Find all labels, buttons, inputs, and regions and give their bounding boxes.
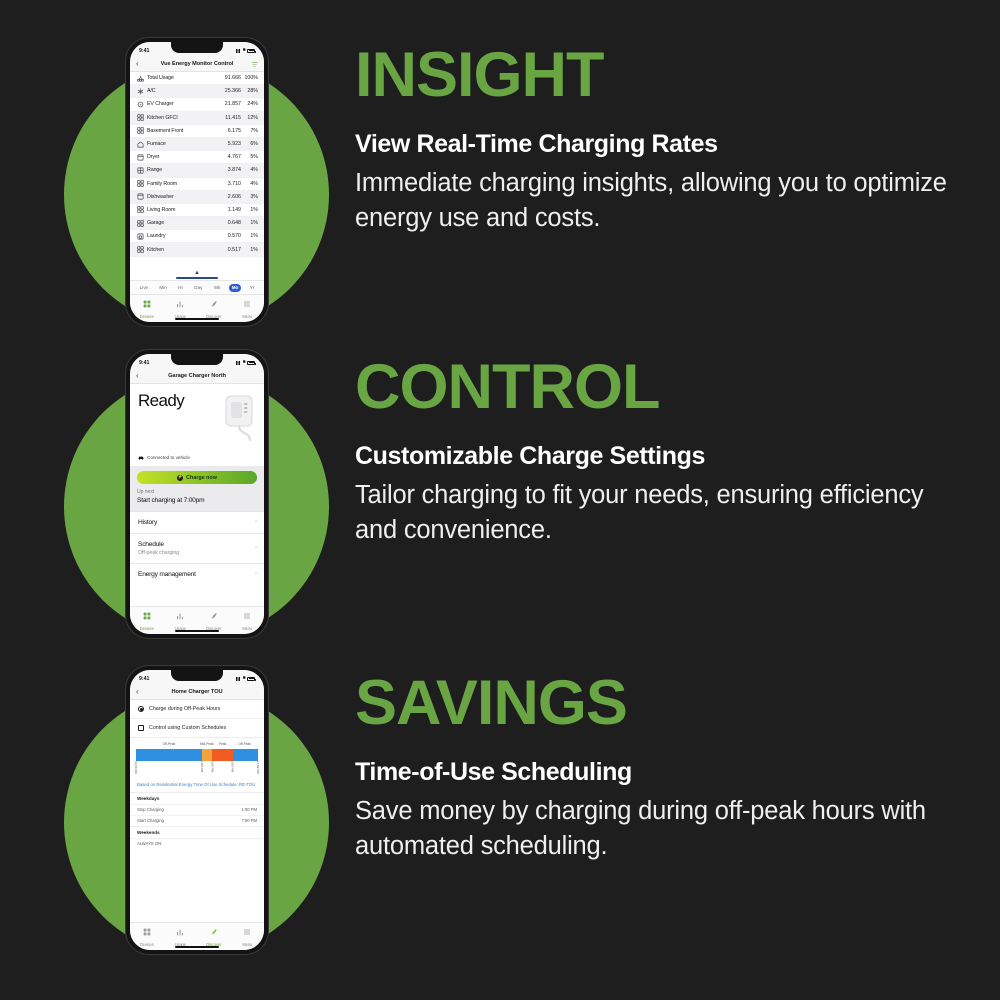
settings-row[interactable]: Energy management› xyxy=(130,563,264,585)
usage-row[interactable]: Family Room3.7104% xyxy=(130,178,264,191)
usage-row[interactable]: Garage0.6481% xyxy=(130,217,264,230)
usage-row[interactable]: EV Charger21.85724% xyxy=(130,98,264,111)
nav-bar: ‹ Vue Energy Monitor Control xyxy=(130,57,264,72)
tab-label: Devices xyxy=(140,626,154,631)
usage-row-value: 11.415 xyxy=(219,115,241,121)
chevron-right-icon: › xyxy=(255,571,257,577)
tou-schedule-note: Based on Residential Energy Time Of Use … xyxy=(130,780,264,792)
schedule-row: Stop Charging1:00 PM xyxy=(130,804,264,815)
tou-tick-label: 7:00 PM xyxy=(230,761,234,772)
tou-tick-label: 1:00 PM xyxy=(200,761,204,772)
radio-unselected-icon[interactable] xyxy=(138,725,144,731)
status-time: 9:41 xyxy=(139,48,149,54)
settings-row-title: History xyxy=(138,519,255,526)
usage-icon xyxy=(176,295,184,313)
schedule-row-value: 1:00 PM xyxy=(241,807,257,812)
usage-row[interactable]: Kitchen GFCI11.41512% xyxy=(130,112,264,125)
charger-detail: Ready xyxy=(130,384,264,606)
weekdays-header: Weekdays xyxy=(130,792,264,804)
feature-control: 9:41 ⏹ ‹ Garage Charger North Ready xyxy=(0,334,1000,646)
nav-bar: ‹ Home Charger TOU xyxy=(130,685,264,700)
connection-label: Connected to vehicle xyxy=(147,455,190,460)
page-title: Home Charger TOU xyxy=(130,689,264,695)
up-next-label: Up next xyxy=(137,489,257,495)
schedule-row-label: ALWAYS ON xyxy=(137,841,161,846)
ev-plug-icon xyxy=(135,101,145,108)
menu-icon xyxy=(243,295,251,313)
usage-row-name: Kitchen xyxy=(145,247,219,253)
feature-body: Tailor charging to fit your needs, ensur… xyxy=(355,478,955,548)
time-range-selector[interactable]: LiveMinHrDayWkMoYr xyxy=(130,280,264,294)
tab-usage[interactable]: Usage xyxy=(165,295,195,319)
schedule-row-label: Start Charging xyxy=(137,818,164,823)
phone-notch xyxy=(171,42,223,53)
phone-notch xyxy=(171,354,223,365)
phone-mockup-savings: 9:41 ⏹ ‹ Home Charger TOU Charge during … xyxy=(126,666,268,954)
settings-row-subtitle: Off-peak charging xyxy=(138,550,255,556)
settings-row-title: Energy management xyxy=(138,571,255,578)
chevron-right-icon: › xyxy=(255,545,257,551)
usage-row-value: 5.923 xyxy=(219,141,241,147)
feature-subhead: Time-of-Use Scheduling xyxy=(355,758,955,787)
feature-kicker: CONTROL xyxy=(355,356,955,419)
usage-row[interactable]: Range3.8744% xyxy=(130,164,264,177)
devices-icon xyxy=(143,607,151,625)
usage-row[interactable]: Basement Front6.1757% xyxy=(130,125,264,138)
filter-icon[interactable] xyxy=(251,61,258,68)
charge-mode-options[interactable]: Charge during Off-Peak HoursControl usin… xyxy=(130,700,264,738)
charge-mode-label: Charge during Off-Peak Hours xyxy=(149,706,220,712)
usage-row[interactable]: Laundry0.5701% xyxy=(130,230,264,243)
settings-row[interactable]: History› xyxy=(130,511,264,533)
usage-row-percent: 1% xyxy=(241,207,258,213)
tou-segment-mid-peak xyxy=(202,749,212,761)
outlet-icon xyxy=(135,127,145,134)
tab-menu[interactable]: Menu xyxy=(232,923,262,947)
cellular-signal-icon xyxy=(236,49,241,53)
outlet-icon xyxy=(135,246,145,253)
usage-row-percent: 4% xyxy=(241,167,258,173)
status-time: 9:41 xyxy=(139,360,149,366)
settings-list[interactable]: History›ScheduleOff-peak charging›Energy… xyxy=(130,511,264,585)
washer-icon xyxy=(135,233,145,240)
wifi-icon: ⏹ xyxy=(243,48,246,53)
status-icons: ⏹ xyxy=(236,676,255,681)
feature-body: Save money by charging during off-peak h… xyxy=(355,794,955,864)
usage-row-name: Laundry xyxy=(145,233,219,239)
usage-row-percent: 1% xyxy=(241,247,258,253)
feature-body: Immediate charging insights, allowing yo… xyxy=(355,166,955,236)
usage-row-name: EV Charger xyxy=(145,101,219,107)
tab-usage[interactable]: Usage xyxy=(165,607,195,631)
charge-mode-option[interactable]: Charge during Off-Peak Hours xyxy=(130,700,264,719)
usage-row-name: Basement Front xyxy=(145,128,219,134)
tab-devices[interactable]: Devices xyxy=(132,923,162,947)
wifi-icon: ⏹ xyxy=(243,360,246,365)
usage-row-name: Range xyxy=(145,167,219,173)
total-usage-row[interactable]: Total Usage91.666100% xyxy=(130,72,264,85)
cellular-signal-icon xyxy=(236,361,241,365)
usage-row-value: 25.366 xyxy=(219,88,241,94)
feature-insight: 9:41 ⏹ ‹ Vue Energy Monitor Control xyxy=(0,22,1000,334)
feature-savings: 9:41 ⏹ ‹ Home Charger TOU Charge during … xyxy=(0,650,1000,962)
usage-row-name: Family Room xyxy=(145,181,219,187)
usage-row-percent: 24% xyxy=(241,101,258,107)
usage-row-percent: 12% xyxy=(241,115,258,121)
usage-row-value: 6.175 xyxy=(219,128,241,134)
usage-row-value: 0.648 xyxy=(219,220,241,226)
furnace-icon xyxy=(135,141,145,148)
tab-discover[interactable]: Discover xyxy=(199,295,229,319)
tou-period-label: Mid-Peak xyxy=(200,742,213,746)
usage-row-name: Garage xyxy=(145,220,219,226)
usage-row[interactable]: Furnace5.9236% xyxy=(130,138,264,151)
outlet-icon xyxy=(135,206,145,213)
schedule-row-label: Stop Charging xyxy=(137,807,164,812)
phone-mockup-control: 9:41 ⏹ ‹ Garage Charger North Ready xyxy=(126,350,268,638)
car-icon xyxy=(138,456,144,460)
tab-devices[interactable]: Devices xyxy=(132,295,162,319)
page-title: Garage Charger North xyxy=(130,373,264,379)
time-range-chip-mo[interactable]: Mo xyxy=(229,284,242,292)
outlet-icon xyxy=(135,180,145,187)
promo-page: 9:41 ⏹ ‹ Vue Energy Monitor Control xyxy=(0,0,1000,1000)
usage-list[interactable]: Total Usage91.666100%A/C25.36628%EV Char… xyxy=(130,72,264,280)
usage-row[interactable]: Kitchen0.5171% xyxy=(130,243,264,256)
settings-row-title: Schedule xyxy=(138,541,255,548)
status-time: 9:41 xyxy=(139,676,149,682)
devices-icon xyxy=(143,923,151,941)
usage-row-name: Total Usage xyxy=(145,75,219,81)
home-indicator xyxy=(175,946,219,948)
charge-now-label: Charge now xyxy=(186,475,217,481)
tou-period-label: Off-Peak xyxy=(163,742,176,746)
tab-discover[interactable]: Discover xyxy=(199,923,229,947)
feature-text-insight: INSIGHT View Real-Time Charging Rates Im… xyxy=(355,44,955,236)
usage-row[interactable]: A/C25.36628% xyxy=(130,85,264,98)
connection-status: Connected to vehicle xyxy=(138,455,190,460)
weekends-header: Weekends xyxy=(130,826,264,838)
usage-row-value: 3.874 xyxy=(219,167,241,173)
charger-status-card: Ready xyxy=(130,384,264,466)
time-range-chip-hr[interactable]: Hr xyxy=(175,284,186,292)
charge-action-panel: ⚡ Charge now Up next Start charging at 7… xyxy=(130,466,264,511)
nav-bar: ‹ Garage Charger North xyxy=(130,369,264,384)
feature-subhead: View Real-Time Charging Rates xyxy=(355,130,955,159)
devices-icon xyxy=(143,295,151,313)
usage-icon xyxy=(176,607,184,625)
charge-mode-label: Control using Custom Schedules xyxy=(149,725,226,731)
tou-segment-peak xyxy=(212,749,232,761)
phone-notch xyxy=(171,670,223,681)
outlet-icon xyxy=(135,114,145,121)
tab-label: Devices xyxy=(140,314,154,319)
bolt-icon: ⚡ xyxy=(177,475,183,481)
usage-row-value: 0.570 xyxy=(219,233,241,239)
outlet-icon xyxy=(135,220,145,227)
tou-settings: Charge during Off-Peak HoursControl usin… xyxy=(130,700,264,922)
phone-screen: 9:41 ⏹ ‹ Vue Energy Monitor Control xyxy=(130,42,264,322)
ev-charger-illustration xyxy=(220,394,258,442)
tou-tick-label: 11:59 PM xyxy=(256,761,260,774)
schedule-row: ALWAYS ON xyxy=(130,838,264,849)
up-next-value: Start charging at 7:00pm xyxy=(137,497,257,504)
tab-menu[interactable]: Menu xyxy=(232,295,262,319)
tab-devices[interactable]: Devices xyxy=(132,607,162,631)
usage-row[interactable]: Living Room1.1491% xyxy=(130,204,264,217)
home-indicator xyxy=(175,630,219,632)
page-title: Vue Energy Monitor Control xyxy=(130,61,264,67)
battery-icon xyxy=(247,49,255,53)
battery-icon xyxy=(247,677,255,681)
battery-icon xyxy=(247,361,255,365)
tab-usage[interactable]: Usage xyxy=(165,923,195,947)
tab-menu[interactable]: Menu xyxy=(232,607,262,631)
usage-row-value: 1.149 xyxy=(219,207,241,213)
time-range-chip-yr[interactable]: Yr xyxy=(247,284,258,292)
tou-rate-chart: Off-PeakMid-PeakPeakOff-Peak 12:00 AM1:0… xyxy=(136,742,258,778)
usage-row-percent: 28% xyxy=(241,88,258,94)
charge-now-button[interactable]: ⚡ Charge now xyxy=(137,471,257,484)
usage-row-value: 0.517 xyxy=(219,247,241,253)
usage-row-name: Dryer xyxy=(145,154,219,160)
tou-timeline-bar xyxy=(136,749,258,761)
usage-row-percent: 4% xyxy=(241,181,258,187)
home-indicator xyxy=(175,318,219,320)
scroll-handle[interactable] xyxy=(176,277,218,279)
usage-row-value: 3.710 xyxy=(219,181,241,187)
tab-label: Devices xyxy=(140,942,154,947)
usage-row-value: 2.606 xyxy=(219,194,241,200)
tou-period-labels: Off-PeakMid-PeakPeakOff-Peak xyxy=(136,742,258,748)
usage-row-name: Living Room xyxy=(145,207,219,213)
usage-row-percent: 1% xyxy=(241,220,258,226)
tab-discover[interactable]: Discover xyxy=(199,607,229,631)
range-icon xyxy=(135,167,145,174)
status-icons: ⏹ xyxy=(236,360,255,365)
network-icon xyxy=(135,75,145,82)
feature-kicker: INSIGHT xyxy=(355,44,955,107)
feature-subhead: Customizable Charge Settings xyxy=(355,442,955,471)
radio-selected-icon[interactable] xyxy=(138,706,144,712)
discover-icon xyxy=(210,923,218,941)
time-range-chip-day[interactable]: Day xyxy=(191,284,205,292)
tab-label: Menu xyxy=(242,626,252,631)
usage-row-name: Furnace xyxy=(145,141,219,147)
usage-row-name: Kitchen GFCI xyxy=(145,115,219,121)
usage-row-percent: 5% xyxy=(241,154,258,160)
usage-row-value: 4.767 xyxy=(219,154,241,160)
usage-row-value: 21.857 xyxy=(219,101,241,107)
tou-period-label: Off-Peak xyxy=(238,742,251,746)
menu-icon xyxy=(243,607,251,625)
usage-row-percent: 100% xyxy=(241,75,258,81)
tou-period-label: Peak xyxy=(219,742,226,746)
discover-icon xyxy=(210,607,218,625)
time-range-chip-live[interactable]: Live xyxy=(137,284,151,292)
wifi-icon: ⏹ xyxy=(243,676,246,681)
usage-row-percent: 6% xyxy=(241,141,258,147)
phone-mockup-insight: 9:41 ⏹ ‹ Vue Energy Monitor Control xyxy=(126,38,268,326)
settings-row[interactable]: ScheduleOff-peak charging› xyxy=(130,533,264,563)
collapse-caret-icon[interactable]: ▲ xyxy=(194,270,200,276)
usage-row-name: A/C xyxy=(145,88,219,94)
schedule-row: Start Charging7:00 PM xyxy=(130,815,264,826)
time-range-chip-wk[interactable]: Wk xyxy=(211,284,224,292)
dryer-icon xyxy=(135,154,145,161)
usage-row[interactable]: Dryer4.7675% xyxy=(130,151,264,164)
weekday-schedule-rows: Stop Charging1:00 PMStart Charging7:00 P… xyxy=(130,804,264,826)
discover-icon xyxy=(210,295,218,313)
tab-label: Menu xyxy=(242,314,252,319)
usage-icon xyxy=(176,923,184,941)
feature-text-savings: SAVINGS Time-of-Use Scheduling Save mone… xyxy=(355,672,955,864)
tou-tick-label: 3:00 PM xyxy=(210,761,214,772)
menu-icon xyxy=(243,923,251,941)
status-icons: ⏹ xyxy=(236,48,255,53)
snowflake-icon xyxy=(135,88,145,95)
schedule-row-value: 7:00 PM xyxy=(241,818,257,823)
usage-row-value: 91.666 xyxy=(219,75,241,81)
usage-row-percent: 1% xyxy=(241,233,258,239)
time-range-chip-min[interactable]: Min xyxy=(156,284,169,292)
usage-row[interactable]: Dishwasher2.6063% xyxy=(130,191,264,204)
tou-tick-label: 12:00 AM xyxy=(134,761,138,774)
usage-row-percent: 3% xyxy=(241,194,258,200)
usage-row-percent: 7% xyxy=(241,128,258,134)
dishwasher-icon xyxy=(135,193,145,200)
phone-screen: 9:41 ⏹ ‹ Garage Charger North Ready xyxy=(130,354,264,634)
tab-label: Menu xyxy=(242,942,252,947)
charge-mode-option[interactable]: Control using Custom Schedules xyxy=(130,719,264,738)
feature-kicker: SAVINGS xyxy=(355,672,955,735)
weekend-schedule-rows: ALWAYS ON xyxy=(130,838,264,849)
cellular-signal-icon xyxy=(236,677,241,681)
feature-text-control: CONTROL Customizable Charge Settings Tai… xyxy=(355,356,955,548)
usage-row-name: Dishwasher xyxy=(145,194,219,200)
phone-screen: 9:41 ⏹ ‹ Home Charger TOU Charge during … xyxy=(130,670,264,950)
chevron-right-icon: › xyxy=(255,519,257,525)
